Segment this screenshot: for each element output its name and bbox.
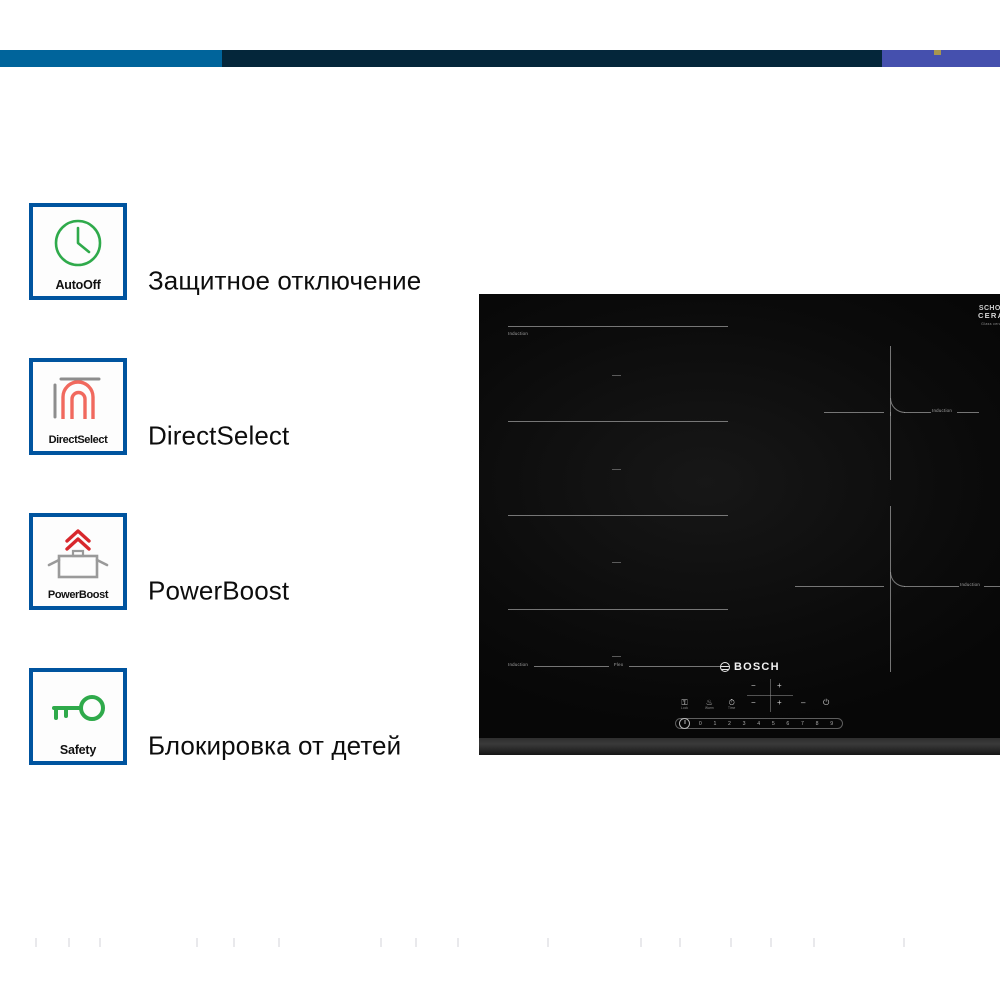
plus-icon-upper[interactable]: + — [777, 682, 782, 690]
footer-mark — [679, 938, 681, 947]
top-accent-bar — [0, 50, 1000, 67]
feature-item-autooff: AutoOff Защитное отключение — [29, 203, 449, 358]
minus-icon-upper[interactable]: − — [751, 682, 756, 690]
zone-label-induction-right-upper: Induction — [932, 408, 952, 413]
footer-mark — [68, 938, 70, 947]
power-step[interactable]: 5 — [772, 721, 775, 727]
power-step[interactable]: 2 — [728, 721, 731, 727]
footer-mark — [903, 938, 905, 947]
footer-mark — [415, 938, 417, 947]
feature-badge-caption: Safety — [60, 744, 96, 757]
zone-label-induction-bottom-left: Induction — [508, 662, 528, 667]
power-level-slider[interactable]: 0 1 2 3 4 5 6 7 8 9 — [675, 718, 843, 729]
footer-marks — [0, 938, 1000, 952]
top-bar-segment-mid-navy — [222, 50, 882, 67]
zone-center-dash — [612, 562, 621, 563]
power-step[interactable]: 6 — [786, 721, 789, 727]
zone-divider-line — [534, 666, 609, 667]
power-step[interactable]: 8 — [816, 721, 819, 727]
pot-boost-icon — [33, 517, 123, 590]
feature-badge-directselect: DirectSelect — [29, 358, 127, 455]
cooktop-control-panel[interactable]: ⚿ Lock ♨ Warm ⏱ Time − + − + — [675, 686, 843, 736]
feature-badge-safety: Safety — [29, 668, 127, 765]
power-step[interactable]: 1 — [713, 721, 716, 727]
timer-icon[interactable]: ⏱ Time — [728, 699, 735, 711]
zone-divider-line — [629, 666, 727, 667]
power-icon[interactable]: ⏻ — [823, 699, 829, 707]
zone-divider-line — [904, 412, 931, 413]
bosch-logo: BOSCH — [720, 661, 780, 673]
zone-label-flex-bottom-left: Flex — [614, 662, 623, 667]
zone-divider-line-vertical — [890, 586, 891, 672]
power-level-steps[interactable]: 0 1 2 3 4 5 6 7 8 9 — [690, 721, 842, 727]
feature-list: AutoOff Защитное отключение DirectSelect… — [29, 203, 449, 823]
zone-corner-arc — [890, 398, 905, 413]
power-step[interactable]: 9 — [830, 721, 833, 727]
schott-logo-line3: Glass ceramic — [978, 323, 1000, 327]
footer-mark — [380, 938, 382, 947]
feature-item-powerboost: PowerBoost PowerBoost — [29, 513, 449, 668]
zone-center-dash — [612, 469, 621, 470]
bosch-wordmark: BOSCH — [734, 661, 780, 673]
cooktop-front-frame — [479, 738, 1000, 755]
footer-mark — [457, 938, 459, 947]
footer-mark — [196, 938, 198, 947]
control-pad-divider-v — [770, 679, 771, 712]
zone-label-induction-right-lower: Induction — [960, 582, 980, 587]
footer-mark — [35, 938, 37, 947]
product-image-induction-cooktop: SCHOTT CERAN Glass ceramic Induction Ind… — [479, 294, 1000, 755]
feature-label-powerboost: PowerBoost — [148, 574, 438, 607]
zone-corner-arc — [890, 572, 905, 587]
keep-warm-icon[interactable]: ♨ Warm — [705, 699, 714, 711]
zone-divider-line — [957, 412, 979, 413]
key-icon — [33, 672, 123, 744]
feature-badge-caption: DirectSelect — [49, 435, 108, 446]
bosch-mark-icon — [720, 662, 730, 672]
power-step[interactable]: 7 — [801, 721, 804, 727]
schott-logo-line2: CERAN — [978, 312, 1000, 320]
top-bar-segment-right-indigo — [882, 50, 1000, 67]
schott-ceran-logo: SCHOTT CERAN Glass ceramic — [978, 305, 1000, 326]
feature-item-safety: Safety Блокировка от детей — [29, 668, 449, 823]
zone-divider-line — [508, 609, 728, 610]
direct-select-icon — [33, 362, 123, 435]
zone-divider-line-vertical — [890, 412, 891, 480]
footer-mark — [278, 938, 280, 947]
minus-icon-lower[interactable]: − — [751, 699, 756, 707]
zone-divider-line — [795, 586, 884, 587]
feature-label-autooff: Защитное отключение — [148, 264, 438, 297]
zone-label-induction-top-left: Induction — [508, 331, 528, 336]
zone-divider-line — [984, 586, 1000, 587]
power-step[interactable]: 0 — [699, 721, 702, 727]
feature-badge-caption: AutoOff — [55, 279, 100, 292]
footer-mark — [640, 938, 642, 947]
feature-label-directselect: DirectSelect — [148, 419, 438, 452]
power-toggle-icon[interactable] — [679, 718, 690, 729]
zone-center-dash — [612, 375, 621, 376]
footer-mark — [547, 938, 549, 947]
feature-badge-powerboost: PowerBoost — [29, 513, 127, 610]
footer-mark — [813, 938, 815, 947]
feature-badge-caption: PowerBoost — [48, 590, 108, 601]
zone-divider-line — [508, 326, 728, 327]
zone-divider-line — [904, 586, 959, 587]
feature-item-directselect: DirectSelect DirectSelect — [29, 358, 449, 513]
top-bar-segment-left-blue — [0, 50, 222, 67]
plus-icon-lower[interactable]: + — [777, 699, 782, 707]
clock-icon — [33, 207, 123, 279]
cooktop-glass-surface: SCHOTT CERAN Glass ceramic Induction Ind… — [479, 294, 1000, 742]
dash-icon[interactable]: – — [801, 699, 805, 707]
child-lock-icon[interactable]: ⚿ Lock — [681, 699, 688, 711]
zone-divider-line — [508, 421, 728, 422]
power-step[interactable]: 4 — [757, 721, 760, 727]
footer-mark — [730, 938, 732, 947]
feature-badge-autooff: AutoOff — [29, 203, 127, 300]
zone-divider-line — [508, 515, 728, 516]
zone-center-dash — [612, 656, 621, 657]
footer-mark — [233, 938, 235, 947]
top-bar-highlight-mark — [934, 50, 941, 55]
feature-label-safety: Блокировка от детей — [148, 729, 438, 762]
zone-divider-line — [824, 412, 884, 413]
footer-mark — [770, 938, 772, 947]
footer-mark — [99, 938, 101, 947]
power-step[interactable]: 3 — [743, 721, 746, 727]
zone-divider-line-vertical — [890, 346, 891, 416]
